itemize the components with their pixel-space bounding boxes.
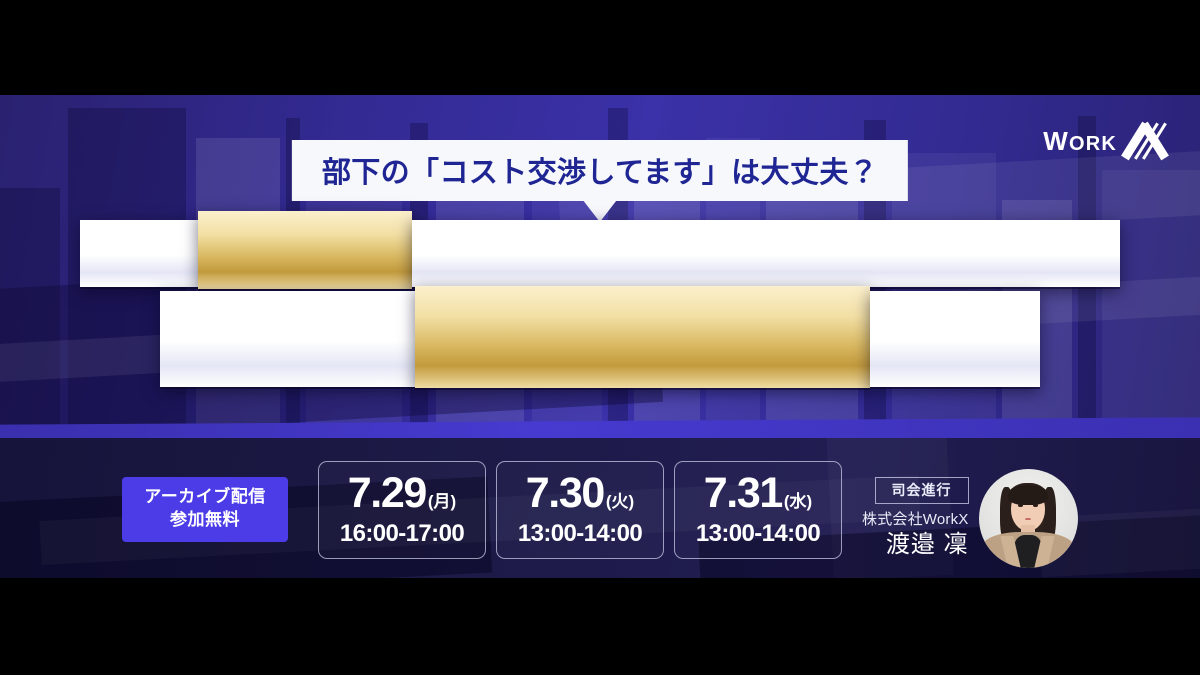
headline-seg-gold: 50億円: [198, 211, 412, 289]
banner-artwork: WORK 部下の「コスト交渉してます」は大丈夫？ 累計50億円削減したコンサル達…: [0, 95, 1200, 578]
workx-logo[interactable]: WORK: [1043, 124, 1168, 158]
date-dayofweek: (火): [606, 487, 634, 512]
date-card[interactable]: 7.31 (水) 13:00-14:00: [674, 461, 842, 559]
speaker-avatar: [979, 469, 1078, 568]
date-dayofweek: (月): [428, 487, 456, 512]
headline-seg: 方法: [870, 291, 1040, 387]
headline-line-1: 累計50億円削減したコンサル達が語る: [0, 215, 1200, 285]
date-dayofweek: (水): [784, 487, 812, 512]
info-row: アーカイブ配信 参加無料 7.29 (月) 16:00-17:00 7.30 (…: [0, 455, 1200, 578]
date-number: 7.31: [704, 472, 782, 515]
speaker-role-badge: 司会進行: [875, 477, 969, 504]
date-number: 7.30: [526, 472, 604, 515]
date-card[interactable]: 7.29 (月) 16:00-17:00: [318, 461, 486, 559]
headline: 累計50億円削減したコンサル達が語る 最強のコスト削減方法: [0, 215, 1200, 383]
archive-badge-line2: 参加無料: [128, 509, 282, 532]
archive-badge[interactable]: アーカイブ配信 参加無料: [122, 477, 288, 542]
date-time: 16:00-17:00: [340, 520, 464, 548]
speaker-company: 株式会社WorkX: [862, 510, 969, 530]
date-time: 13:00-14:00: [696, 520, 820, 548]
logo-wordmark: WORK: [1043, 126, 1117, 157]
headline-seg: 最強の: [160, 291, 415, 387]
speaker-meta: 司会進行 株式会社WorkX 渡邉 凜: [862, 477, 969, 560]
tagline-text: 部下の「コスト交渉してます」は大丈夫？: [322, 157, 878, 189]
letterbox-top: [0, 0, 1200, 95]
tagline-speech-bubble: 部下の「コスト交渉してます」は大丈夫？: [292, 140, 908, 201]
date-card[interactable]: 7.30 (火) 13:00-14:00: [496, 461, 664, 559]
date-number: 7.29: [348, 472, 426, 515]
banner-stage: WORK 部下の「コスト交渉してます」は大丈夫？ 累計50億円削減したコンサル達…: [0, 0, 1200, 675]
archive-badge-line1: アーカイブ配信: [128, 486, 282, 509]
headline-seg-gold: コスト削減: [415, 286, 870, 388]
letterbox-bottom: [0, 578, 1200, 675]
speaker-name: 渡邉 凜: [862, 530, 969, 560]
logo-x-icon: [1126, 124, 1168, 158]
date-card-list: 7.29 (月) 16:00-17:00 7.30 (火) 13:00-14:0…: [318, 461, 842, 559]
date-time: 13:00-14:00: [518, 520, 642, 548]
speaker-block: 司会進行 株式会社WorkX 渡邉 凜: [862, 469, 1078, 568]
headline-line-2: 最強のコスト削減方法: [0, 291, 1200, 383]
headline-seg: 削減したコンサル達が語る: [412, 220, 1120, 287]
headline-seg: 累計: [80, 220, 198, 287]
